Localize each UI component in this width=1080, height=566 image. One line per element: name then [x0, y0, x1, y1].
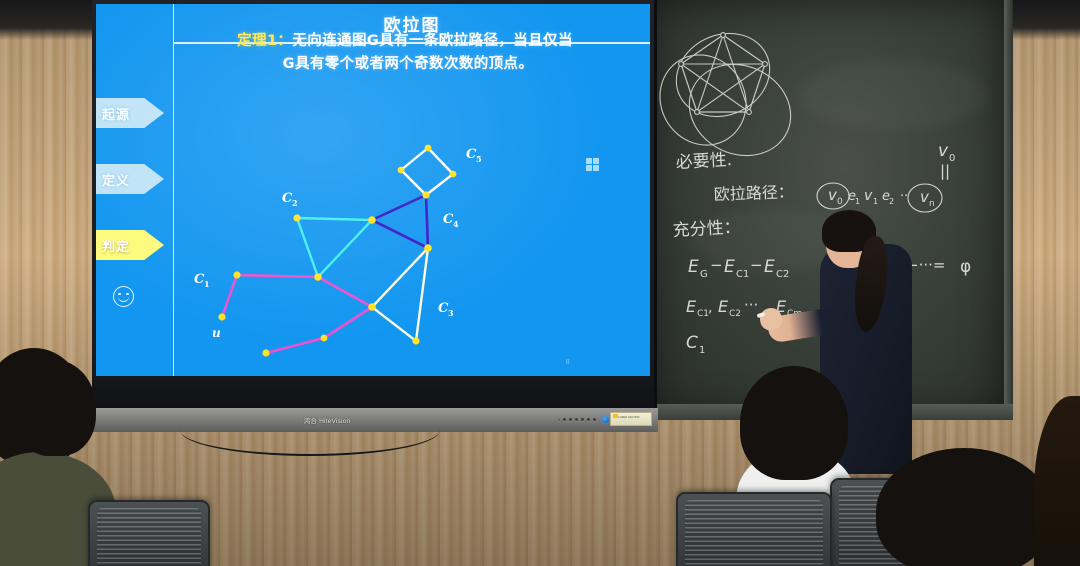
control-button-1[interactable] [563, 418, 566, 421]
component-c4-triangle [372, 195, 428, 248]
smartboard-brand-logo: 鸿合 HiteVision [272, 415, 382, 425]
control-button-3[interactable] [575, 418, 578, 421]
component-c2-triangle [297, 218, 372, 277]
svg-text:0: 0 [837, 197, 843, 207]
graph-labels: C 1 C 2 C 3 C 4 C 5 u v [194, 147, 482, 359]
sidebar-item-label: 定义 [102, 170, 130, 189]
theorem-line-1: 无向连通图G具有一条欧拉路径，当且仅当 [292, 33, 573, 49]
svg-text:C2: C2 [729, 309, 741, 319]
chair-left[interactable] [88, 500, 210, 566]
svg-text:5: 5 [476, 154, 482, 164]
svg-text:||: || [940, 162, 950, 180]
chair-right[interactable] [676, 492, 832, 566]
svg-text:n: n [929, 199, 935, 209]
svg-text:1: 1 [699, 345, 705, 356]
svg-text:欧拉路径：: 欧拉路径： [713, 182, 794, 204]
svg-text:2: 2 [889, 197, 894, 206]
svg-text:必要性.: 必要性. [675, 150, 732, 173]
svg-text:G: G [700, 269, 708, 280]
svg-text:3: 3 [448, 308, 454, 318]
indicator-led [558, 419, 560, 421]
svg-text:v: v [938, 141, 949, 161]
svg-text:E: E [686, 297, 697, 316]
svg-text:C2: C2 [776, 269, 789, 280]
svg-text:v: v [864, 188, 873, 204]
component-c1-path [222, 275, 372, 353]
classroom-scene: 必要性. 欧拉路径： v 0 e 1 v 1 e 2 ·· v n v 0 ||… [0, 0, 1080, 566]
svg-text:···: ··· [744, 296, 758, 314]
svg-text:E: E [764, 257, 775, 277]
warning-sticker-text: LASER CAUTION [619, 416, 640, 419]
student-left [14, 360, 96, 456]
theorem-text: 定理1：无向连通图G具有一条欧拉路径，当且仅当 G具有零个或者两个奇数次数的顶点… [188, 30, 628, 77]
windows-grid-logo [586, 158, 599, 171]
student-right [876, 448, 1052, 566]
control-button-5[interactable] [587, 418, 590, 421]
euler-graph-figure: C 1 C 2 C 3 C 4 C 5 u v [176, 144, 576, 359]
svg-text:φ: φ [960, 257, 971, 277]
warning-sticker: LASER CAUTION [610, 412, 652, 426]
presentation-slide[interactable]: 欧拉图 起源 定义 判定 定理1：无向连通图G具有一条欧拉路径，当且仅当 G具有… [96, 4, 650, 376]
svg-text:−: − [750, 256, 763, 274]
smiley-face-icon[interactable] [113, 286, 134, 307]
svg-text:u: u [212, 326, 221, 340]
control-button-4[interactable] [581, 418, 584, 421]
svg-text:,: , [708, 300, 712, 316]
svg-text:4: 4 [453, 219, 459, 229]
control-button-2[interactable] [569, 418, 572, 421]
svg-text:E: E [724, 257, 735, 277]
component-c3-triangle [372, 248, 428, 341]
svg-text:E: E [718, 297, 729, 316]
svg-text:··: ·· [900, 189, 908, 204]
blackboard-frame-right [1004, 0, 1013, 418]
smartboard-button-row[interactable] [558, 416, 609, 423]
svg-text:1: 1 [204, 279, 210, 289]
control-button-6[interactable] [593, 418, 596, 421]
slide-page-number: 8 [566, 358, 570, 366]
svg-text:2: 2 [292, 198, 298, 208]
theorem-line-2: G具有零个或者两个奇数次数的顶点。 [188, 53, 628, 76]
sidebar-item-label: 判定 [102, 236, 130, 255]
svg-text:1: 1 [873, 197, 878, 206]
graph-vertices [218, 145, 456, 357]
component-c5-square [401, 148, 453, 195]
power-button[interactable] [602, 416, 609, 423]
sidebar-item-label: 起源 [102, 104, 130, 123]
svg-text:−: − [710, 256, 723, 274]
student-center-right [740, 366, 848, 480]
theorem-label: 定理1： [237, 33, 292, 49]
pentagram-k5-graph [648, 18, 806, 171]
svg-text:充分性：: 充分性： [672, 217, 741, 241]
svg-text:C1: C1 [736, 269, 749, 280]
svg-text:C: C [686, 333, 698, 353]
svg-text:E: E [688, 257, 699, 277]
svg-text:1: 1 [855, 197, 860, 206]
smartboard-screen[interactable]: 欧拉图 起源 定义 判定 定理1：无向连通图G具有一条欧拉路径，当且仅当 G具有… [96, 4, 650, 376]
